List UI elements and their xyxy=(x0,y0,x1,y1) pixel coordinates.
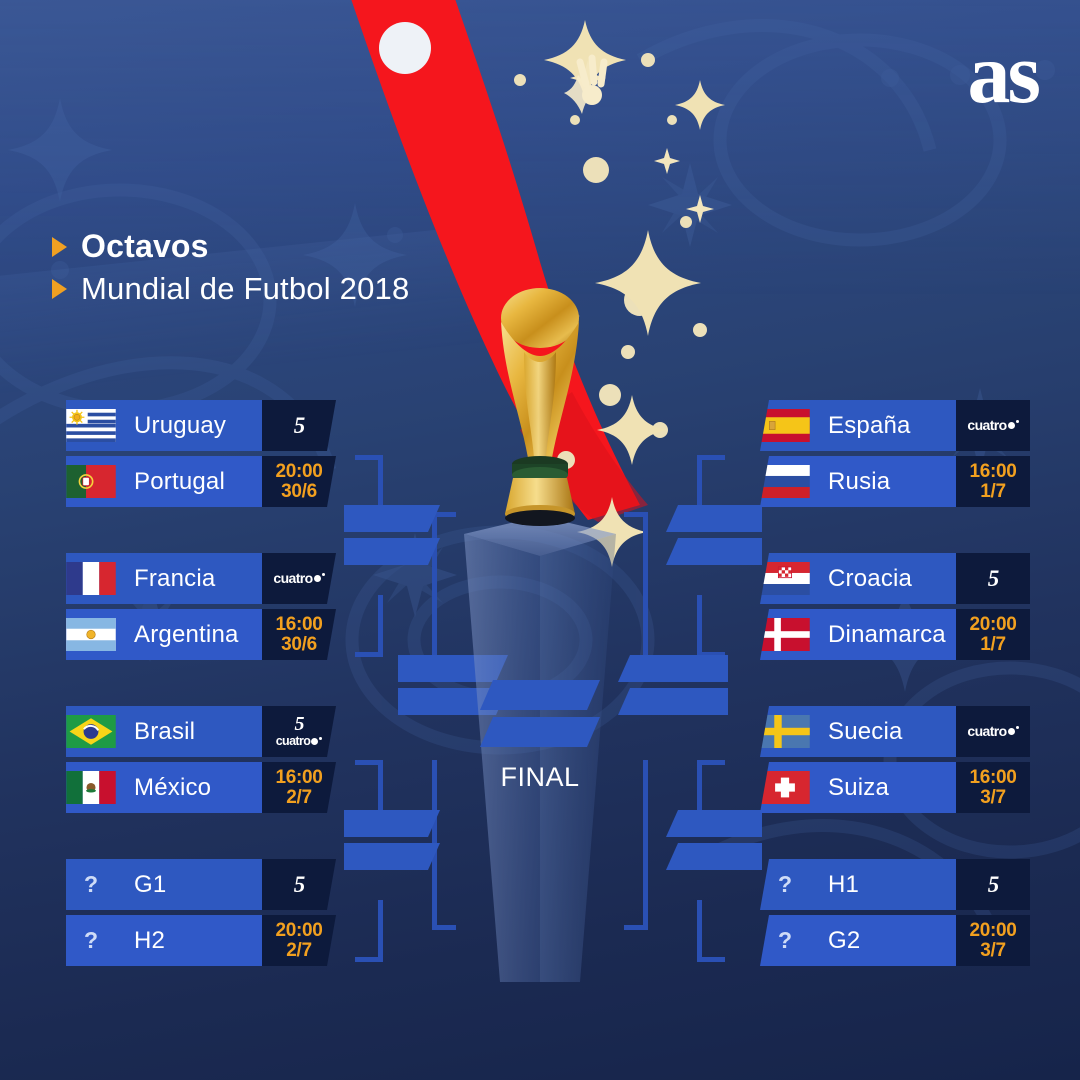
match-time: 20:00 xyxy=(275,921,322,941)
triangle-bullet-icon xyxy=(52,279,67,299)
team-name: Croacia xyxy=(810,553,956,604)
match-date: 2/7 xyxy=(286,788,312,808)
match-time-date: 16:00 2/7 xyxy=(262,762,336,813)
match-date: 30/6 xyxy=(281,635,317,655)
flag-croacia xyxy=(760,553,810,604)
match-card[interactable]: Brasil 5cuatro México 16:00 2/7 xyxy=(66,706,336,813)
flag-espana xyxy=(760,400,810,451)
channel-logo-telecinco: 5 xyxy=(988,874,999,896)
match-card[interactable]: Uruguay 5 Portugal 20:00 30/6 xyxy=(66,400,336,507)
flag-dinamarca xyxy=(760,609,810,660)
channel-logo-telecinco: 5 xyxy=(294,874,305,896)
team-name: H2 xyxy=(116,915,262,966)
match-slot[interactable]: Croacia 5 xyxy=(760,553,1030,604)
channel-logo-cuatro: cuatro xyxy=(276,735,323,748)
match-slot[interactable]: Suiza 16:00 3/7 xyxy=(760,762,1030,813)
final-slot-pair xyxy=(480,680,600,754)
final-label: FINAL xyxy=(500,762,579,793)
flag-francia xyxy=(66,553,116,604)
team-name: G2 xyxy=(810,915,956,966)
match-slot[interactable]: Dinamarca 20:00 1/7 xyxy=(760,609,1030,660)
match-slot[interactable]: Francia cuatro xyxy=(66,553,336,604)
match-slot[interactable]: España cuatro xyxy=(760,400,1030,451)
team-name: Suiza xyxy=(810,762,956,813)
broadcast-channel: 5 xyxy=(262,400,336,451)
broadcast-channel: 5 xyxy=(956,859,1030,910)
match-slot[interactable]: Portugal 20:00 30/6 xyxy=(66,456,336,507)
match-slot[interactable]: ?H1 5 xyxy=(760,859,1030,910)
match-time-date: 20:00 1/7 xyxy=(956,609,1030,660)
flag-mexico xyxy=(66,762,116,813)
match-time-date: 16:00 1/7 xyxy=(956,456,1030,507)
team-name: México xyxy=(116,762,262,813)
channel-logo-cuatro: cuatro xyxy=(967,418,1018,433)
match-slot[interactable]: ?H2 20:00 2/7 xyxy=(66,915,336,966)
match-time-date: 20:00 3/7 xyxy=(956,915,1030,966)
flag-placeholder: ? xyxy=(760,859,810,910)
broadcast-channel: cuatro xyxy=(956,400,1030,451)
channel-logo-telecinco: 5 xyxy=(294,415,305,437)
team-name: Rusia xyxy=(810,456,956,507)
broadcast-channel: 5cuatro xyxy=(262,706,336,757)
match-slot[interactable]: Argentina 16:00 30/6 xyxy=(66,609,336,660)
match-card[interactable]: ?H1 5 ?G2 20:00 3/7 xyxy=(760,859,1030,966)
broadcast-channel: cuatro xyxy=(262,553,336,604)
channel-logo-cuatro: cuatro xyxy=(967,724,1018,739)
unknown-team-icon: ? xyxy=(84,927,98,954)
match-slot[interactable]: Rusia 16:00 1/7 xyxy=(760,456,1030,507)
channel-logo-cuatro: cuatro xyxy=(273,571,324,586)
broadcast-channel: 5 xyxy=(956,553,1030,604)
page-subtitle: Mundial de Futbol 2018 xyxy=(81,271,409,307)
match-slot[interactable]: Suecia cuatro xyxy=(760,706,1030,757)
match-date: 30/6 xyxy=(281,482,317,502)
match-date: 3/7 xyxy=(980,941,1006,961)
team-name: G1 xyxy=(116,859,262,910)
team-name: Francia xyxy=(116,553,262,604)
match-time: 20:00 xyxy=(969,615,1016,635)
world-cup-trophy xyxy=(480,282,600,530)
match-date: 1/7 xyxy=(980,635,1006,655)
match-card[interactable]: Suecia cuatro Suiza 16:00 3/7 xyxy=(760,706,1030,813)
match-card[interactable]: Croacia 5 Dinamarca 20:00 1/7 xyxy=(760,553,1030,660)
team-name: Portugal xyxy=(116,456,262,507)
match-slot[interactable]: ?G1 5 xyxy=(66,859,336,910)
match-slot[interactable]: Uruguay 5 xyxy=(66,400,336,451)
broadcast-channel: cuatro xyxy=(956,706,1030,757)
bracket-slot xyxy=(480,717,600,747)
heading-row-subtitle: Mundial de Futbol 2018 xyxy=(52,271,409,307)
flag-uruguay xyxy=(66,400,116,451)
match-slot[interactable]: México 16:00 2/7 xyxy=(66,762,336,813)
channel-logo-telecinco: 5 xyxy=(988,568,999,590)
match-date: 1/7 xyxy=(980,482,1006,502)
as-logo: as xyxy=(968,36,1038,110)
team-name: Brasil xyxy=(116,706,262,757)
team-name: Suecia xyxy=(810,706,956,757)
infographic-root: as Octavos Mundial de Futbol 2018 xyxy=(0,0,1080,1080)
team-name: Uruguay xyxy=(116,400,262,451)
match-time: 16:00 xyxy=(969,768,1016,788)
flag-suecia xyxy=(760,706,810,757)
team-name: Argentina xyxy=(116,609,262,660)
match-time: 16:00 xyxy=(275,768,322,788)
unknown-team-icon: ? xyxy=(778,871,792,898)
match-time: 20:00 xyxy=(969,921,1016,941)
match-card[interactable]: España cuatro Rusia 16:00 1/7 xyxy=(760,400,1030,507)
match-slot[interactable]: Brasil 5cuatro xyxy=(66,706,336,757)
match-time: 20:00 xyxy=(275,462,322,482)
match-time-date: 20:00 30/6 xyxy=(262,456,336,507)
team-name: España xyxy=(810,400,956,451)
team-name: Dinamarca xyxy=(810,609,956,660)
flag-rusia xyxy=(760,456,810,507)
unknown-team-icon: ? xyxy=(778,927,792,954)
flag-argentina xyxy=(66,609,116,660)
page-heading-block: Octavos Mundial de Futbol 2018 xyxy=(52,228,409,313)
match-card[interactable]: Francia cuatro Argentina 16:00 30/6 xyxy=(66,553,336,660)
team-name: H1 xyxy=(810,859,956,910)
heading-row-title: Octavos xyxy=(52,228,409,265)
triangle-bullet-icon xyxy=(52,237,67,257)
match-time: 16:00 xyxy=(969,462,1016,482)
flag-placeholder: ? xyxy=(760,915,810,966)
bracket-slot xyxy=(480,680,600,710)
flag-brasil xyxy=(66,706,116,757)
flag-portugal xyxy=(66,456,116,507)
match-time-date: 16:00 3/7 xyxy=(956,762,1030,813)
match-time-date: 20:00 2/7 xyxy=(262,915,336,966)
matches-column-right: España cuatro Rusia 16:00 1/7 Croacia 5 … xyxy=(760,400,1030,1012)
unknown-team-icon: ? xyxy=(84,871,98,898)
match-date: 2/7 xyxy=(286,941,312,961)
flag-suiza xyxy=(760,762,810,813)
broadcast-channel: 5 xyxy=(262,859,336,910)
flag-placeholder: ? xyxy=(66,915,116,966)
channel-logo-telecinco: 5 xyxy=(295,715,304,734)
match-date: 3/7 xyxy=(980,788,1006,808)
matches-column-left: Uruguay 5 Portugal 20:00 30/6 Francia cu… xyxy=(66,400,336,1012)
match-card[interactable]: ?G1 5 ?H2 20:00 2/7 xyxy=(66,859,336,966)
flag-placeholder: ? xyxy=(66,859,116,910)
page-title: Octavos xyxy=(81,228,209,265)
match-time-date: 16:00 30/6 xyxy=(262,609,336,660)
match-slot[interactable]: ?G2 20:00 3/7 xyxy=(760,915,1030,966)
match-time: 16:00 xyxy=(275,615,322,635)
